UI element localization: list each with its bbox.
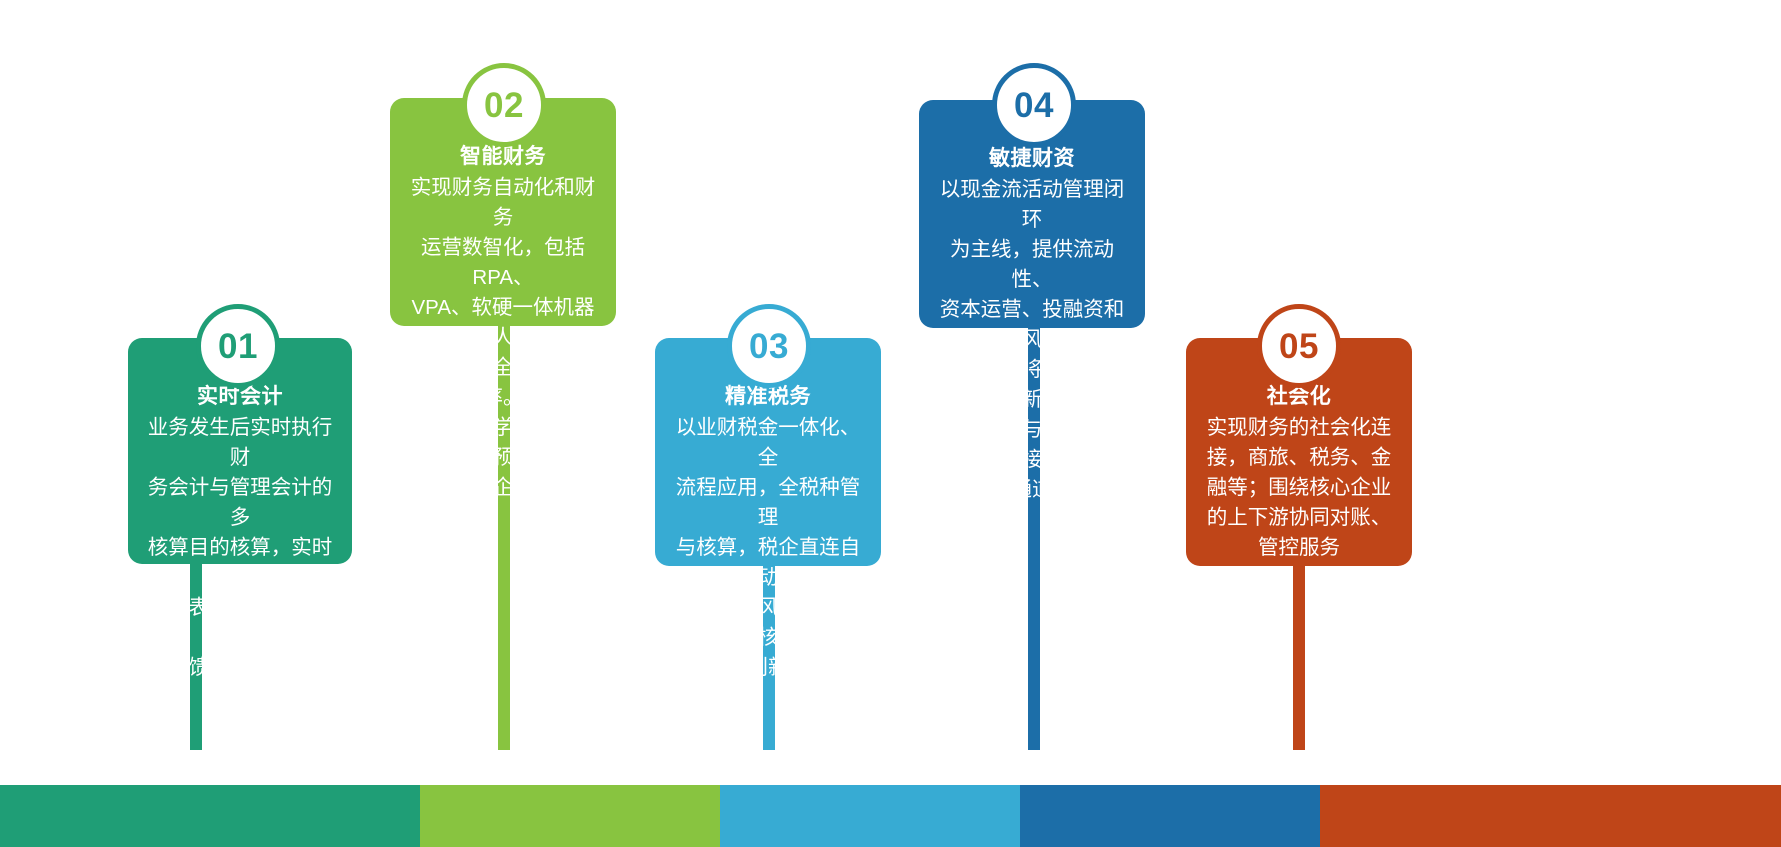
- step-number-1: 01: [218, 329, 258, 364]
- step-badge-5[interactable]: 05: [1257, 304, 1341, 388]
- step-badge-1[interactable]: 01: [196, 304, 280, 388]
- step-number-5: 05: [1279, 329, 1319, 364]
- step-body-5: 实现财务的社会化连 接，商旅、税务、金 融等；围绕核心企业 的上下游协同对账、 …: [1200, 413, 1398, 563]
- step-title-4: 敏捷财资: [933, 144, 1131, 174]
- step-number-2: 02: [484, 88, 524, 123]
- bar-segment-5: [1320, 785, 1781, 847]
- step-badge-3[interactable]: 03: [727, 304, 811, 388]
- bar-segment-4: [1020, 785, 1320, 847]
- bottom-color-bar: [0, 785, 1781, 847]
- step-body-3: 以业财税金一体化、全 流程应用，全税种管理 与核算，税企直连自动 化和税务风险评…: [669, 413, 867, 683]
- step-badge-4[interactable]: 04: [992, 63, 1076, 147]
- step-body-2: 实现财务自动化和财务 运营数智化，包括RPA、 VPA、软硬一体机器人 等应用，…: [404, 173, 602, 503]
- bar-segment-3: [720, 785, 1020, 847]
- bar-segment-1: [0, 785, 420, 847]
- step-number-4: 04: [1014, 88, 1054, 123]
- stem-step-5: [1293, 560, 1305, 750]
- step-body-1: 业务发生后实时执行财 务会计与管理会计的多 核算目的核算，实时财 务报表与管理分…: [142, 413, 338, 743]
- infographic-canvas: 实时会计 业务发生后实时执行财 务会计与管理会计的多 核算目的核算，实时财 务报…: [0, 0, 1781, 847]
- bar-segment-2: [420, 785, 720, 847]
- step-badge-2[interactable]: 02: [462, 63, 546, 147]
- step-number-3: 03: [749, 329, 789, 364]
- step-body-4: 以现金流活动管理闭环 为主线，提供流动性、 资本运营、投融资和风 险管理，将银企…: [933, 175, 1131, 505]
